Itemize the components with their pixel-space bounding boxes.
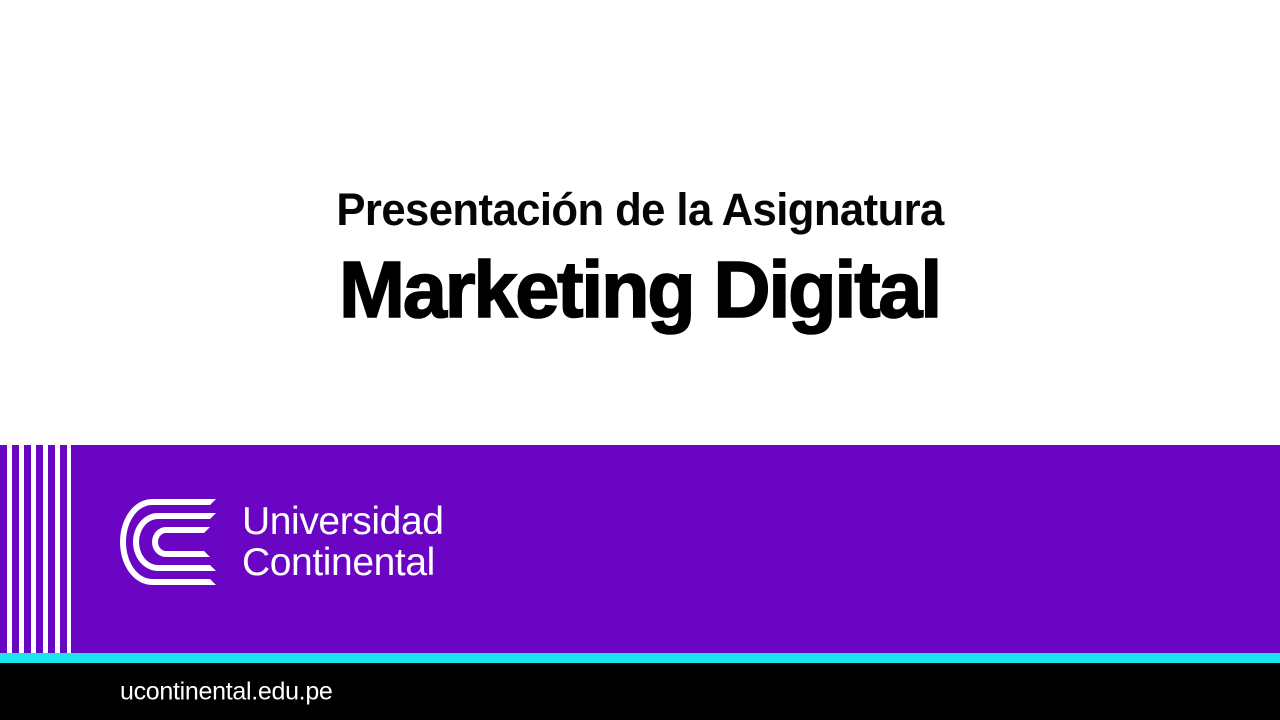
footer-url[interactable]: ucontinental.edu.pe bbox=[120, 677, 333, 706]
subject-kicker: Presentación de la Asignatura bbox=[336, 187, 943, 232]
stripe-bar bbox=[48, 445, 55, 653]
footer-bar: ucontinental.edu.pe bbox=[0, 663, 1280, 720]
brand-logo-lockup: Universidad Continental bbox=[118, 497, 444, 587]
page-title: Marketing Digital bbox=[339, 250, 940, 330]
title-area: Presentación de la Asignatura Marketing … bbox=[0, 0, 1280, 445]
stripe-bar bbox=[24, 445, 31, 653]
stripe-bar bbox=[36, 445, 43, 653]
presentation-slide: Presentación de la Asignatura Marketing … bbox=[0, 0, 1280, 720]
stripe-bar bbox=[0, 445, 7, 653]
stripe-decoration bbox=[0, 445, 71, 653]
wordmark-line-1: Universidad bbox=[242, 501, 444, 542]
wordmark-line-2: Continental bbox=[242, 542, 444, 583]
continental-book-mark-icon bbox=[118, 497, 222, 587]
wordmark: Universidad Continental bbox=[242, 501, 444, 584]
stripe-bar bbox=[12, 445, 19, 653]
cyan-divider bbox=[0, 653, 1280, 663]
stripe-bar bbox=[60, 445, 67, 653]
